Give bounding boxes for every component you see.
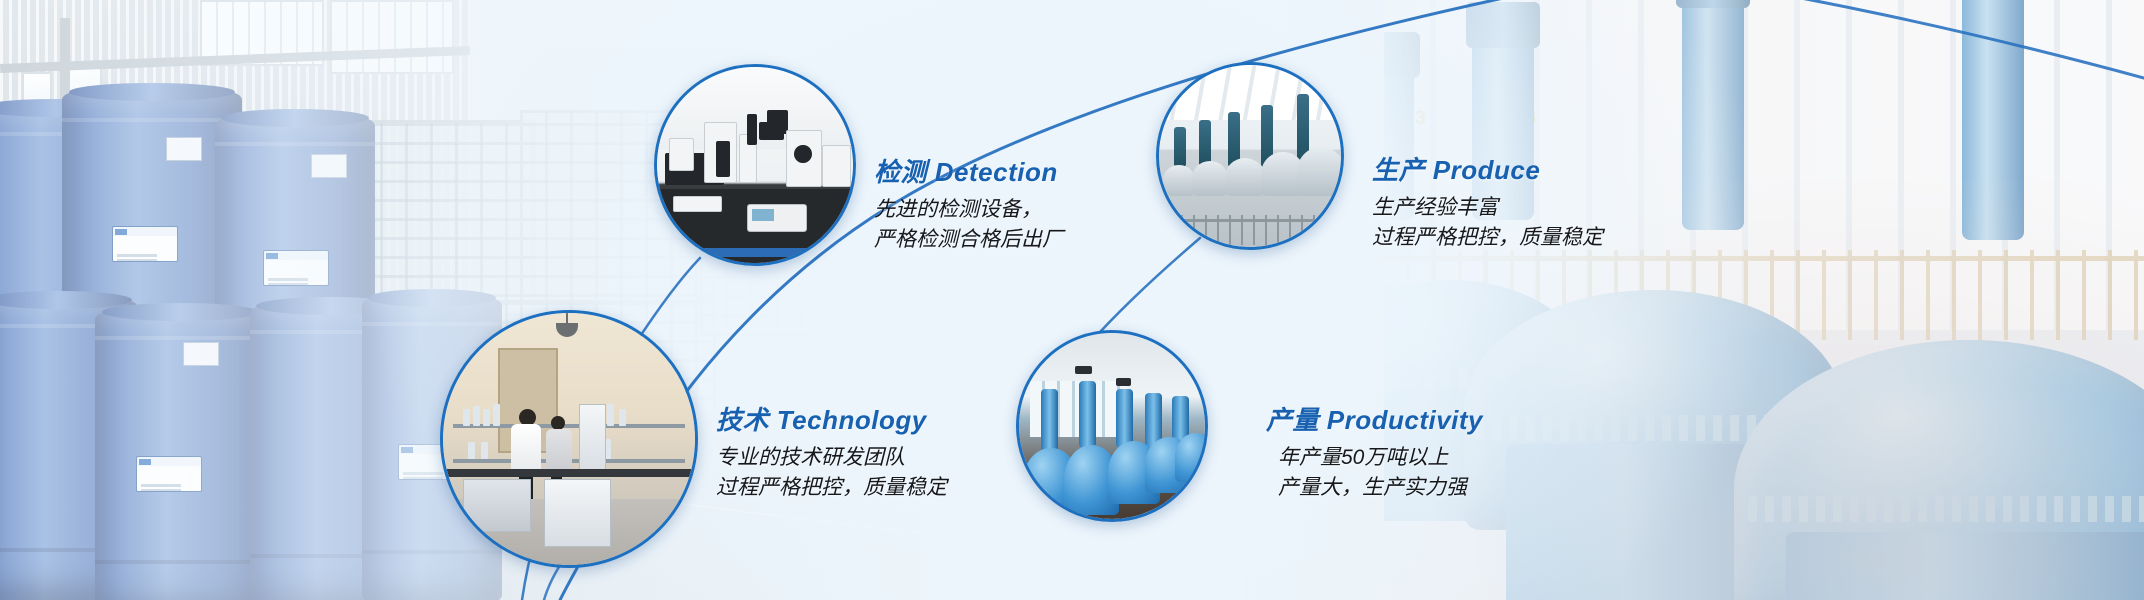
rnd-laboratory-team-photo xyxy=(443,313,695,565)
feature-title-cn: 技术 xyxy=(716,405,769,435)
medallion-detection[interactable] xyxy=(654,64,856,266)
feature-title-en: Productivity xyxy=(1327,405,1483,435)
feature-line: 严格检测合格后出厂 xyxy=(874,225,1063,255)
right-reactor-scene: 3 5 6 xyxy=(1384,0,2144,600)
feature-title-cn: 检测 xyxy=(874,157,927,187)
feature-title-cn: 生产 xyxy=(1372,155,1425,185)
medallion-productivity[interactable] xyxy=(1016,330,1208,522)
feature-text-produce: 生产 Produce 生产经验丰富 过程严格把控，质量稳定 xyxy=(1372,150,1603,253)
laboratory-testing-equipment-photo xyxy=(657,67,853,263)
feature-line: 生产经验丰富 xyxy=(1372,193,1603,223)
feature-title-cn: 产量 xyxy=(1266,405,1319,435)
feature-line: 产量大，生产实力强 xyxy=(1266,473,1483,503)
medallion-produce[interactable] xyxy=(1156,62,1344,250)
feature-line: 先进的检测设备， xyxy=(874,195,1063,225)
feature-line: 过程严格把控，质量稳定 xyxy=(716,473,947,503)
feature-text-productivity: 产量 Productivity 年产量50万吨以上 产量大，生产实力强 xyxy=(1266,400,1483,503)
feature-title-en: Technology xyxy=(777,405,927,435)
feature-title-productivity: 产量 Productivity xyxy=(1266,400,1483,437)
feature-title-en: Produce xyxy=(1433,155,1541,185)
agitator-shaft xyxy=(1682,0,1744,230)
feature-text-detection: 检测 Detection 先进的检测设备， 严格检测合格后出厂 xyxy=(874,152,1063,255)
medallion-technology[interactable] xyxy=(440,310,698,568)
feature-title-en: Detection xyxy=(935,157,1058,187)
company-strength-banner: 3 5 6 xyxy=(0,0,2144,600)
production-workshop-reactors-photo xyxy=(1159,65,1341,247)
feature-line: 过程严格把控，质量稳定 xyxy=(1372,223,1603,253)
vessel-number: 3 xyxy=(1415,108,1426,130)
agitator-shaft xyxy=(1962,0,2024,240)
feature-line: 年产量50万吨以上 xyxy=(1266,443,1483,473)
feature-text-technology: 技术 Technology 专业的技术研发团队 过程严格把控，质量稳定 xyxy=(716,400,947,503)
blue-drum xyxy=(95,312,265,600)
feature-title-technology: 技术 Technology xyxy=(716,400,947,437)
blue-reactor-vessels-photo xyxy=(1019,333,1205,519)
feature-line: 专业的技术研发团队 xyxy=(716,443,947,473)
feature-title-produce: 生产 Produce xyxy=(1372,150,1603,187)
feature-title-detection: 检测 Detection xyxy=(874,152,1063,189)
